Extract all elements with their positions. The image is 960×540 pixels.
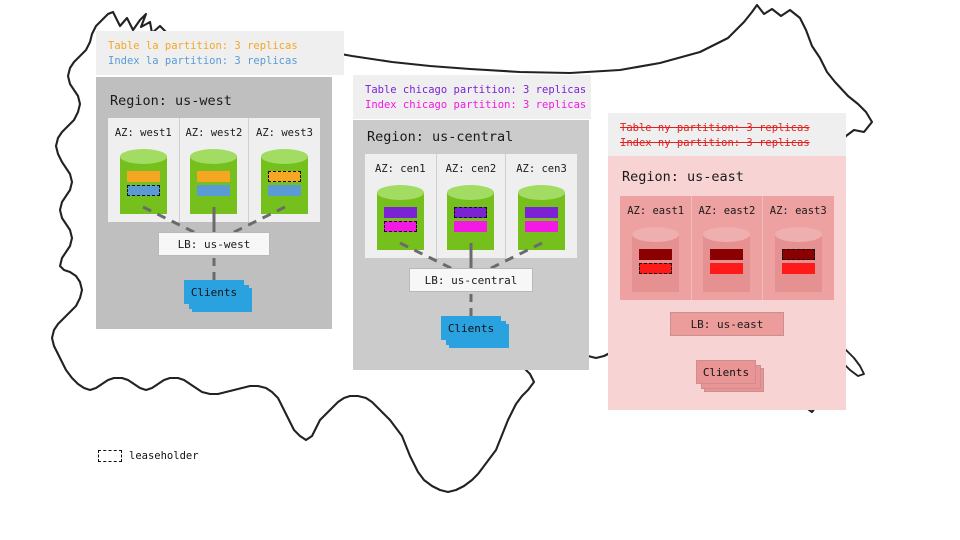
region-panel-us-central: Region: us-central AZ: cen1 AZ: cen2 [353,120,589,370]
lb-label: LB: us-central [425,274,518,287]
replica-bar-table [639,249,672,260]
az-label: AZ: east1 [627,205,684,217]
az-cell-east3[interactable]: AZ: east3 [763,196,834,300]
annotation-line: Table ny partition: 3 replicas [620,121,834,136]
az-label: AZ: west3 [256,127,313,139]
replica-bar-table-leaseholder [782,249,815,260]
replica-bar-index [525,221,558,232]
replica-bar-index [710,263,743,274]
az-label: AZ: cen1 [375,163,426,175]
replica-bar-table [710,249,743,260]
load-balancer-us-west[interactable]: LB: us-west [158,232,270,256]
replica-bar-index-leaseholder [639,263,672,274]
node-cylinder[interactable] [775,227,822,299]
replica-bar-table [127,171,160,182]
clients-label: Clients [191,286,237,299]
replica-bar-table-leaseholder [268,171,301,182]
node-cylinder[interactable] [447,185,494,257]
region-title: Region: us-central [367,129,513,145]
clients-box[interactable]: Clients [184,280,244,304]
az-cell-cen1[interactable]: AZ: cen1 [365,154,436,258]
az-cell-cen3[interactable]: AZ: cen3 [506,154,577,258]
node-cylinder[interactable] [190,149,237,221]
az-label: AZ: west1 [115,127,172,139]
legend-leaseholder: leaseholder [98,450,199,462]
annotation-line: Table la partition: 3 replicas [108,39,332,54]
replica-bar-index [268,185,301,196]
clients-box[interactable]: Clients [441,316,501,340]
clients-label: Clients [448,322,494,335]
az-strip: AZ: east1 AZ: east2 [620,196,834,300]
az-cell-cen2[interactable]: AZ: cen2 [436,154,507,258]
az-label: AZ: east2 [698,205,755,217]
load-balancer-us-central[interactable]: LB: us-central [409,268,533,292]
annotation-us-central: Table chicago partition: 3 replicas Inde… [353,75,591,119]
diagram-canvas: Table la partition: 3 replicas Index la … [0,0,960,540]
az-label: AZ: cen3 [516,163,567,175]
replica-bar-table [197,171,230,182]
node-cylinder[interactable] [518,185,565,257]
az-cell-west2[interactable]: AZ: west2 [179,118,250,222]
annotation-line: Index ny partition: 3 replicas [620,136,834,151]
annotation-line: Index la partition: 3 replicas [108,54,332,69]
az-cell-east1[interactable]: AZ: east1 [620,196,691,300]
node-cylinder[interactable] [703,227,750,299]
clients-box[interactable]: Clients [696,360,756,384]
legend-label: leaseholder [129,450,199,462]
lb-label: LB: us-west [178,238,251,251]
az-label: AZ: cen2 [446,163,497,175]
az-strip: AZ: west1 AZ: west2 [108,118,320,222]
az-label: AZ: east3 [770,205,827,217]
region-panel-us-west: Region: us-west AZ: west1 AZ: west2 [96,77,332,329]
clients-us-west[interactable]: Clients [184,280,252,312]
node-cylinder[interactable] [261,149,308,221]
node-cylinder[interactable] [377,185,424,257]
node-cylinder[interactable] [632,227,679,299]
replica-bar-table [384,207,417,218]
az-strip: AZ: cen1 AZ: cen2 [365,154,577,258]
annotation-us-west: Table la partition: 3 replicas Index la … [96,31,344,75]
az-cell-west1[interactable]: AZ: west1 [108,118,179,222]
load-balancer-us-east[interactable]: LB: us-east [670,312,784,336]
replica-bar-table-leaseholder [454,207,487,218]
cylinder-top [632,227,679,242]
region-title: Region: us-east [622,169,744,185]
replica-bar-index [454,221,487,232]
replica-bar-table [525,207,558,218]
annotation-us-east: Table ny partition: 3 replicas Index ny … [608,113,846,156]
annotation-line: Index chicago partition: 3 replicas [365,98,579,113]
clients-us-east[interactable]: Clients [696,360,764,392]
cylinder-top [775,227,822,242]
cylinder-top [518,185,565,200]
node-cylinder[interactable] [120,149,167,221]
region-title: Region: us-west [110,93,232,109]
cylinder-top [377,185,424,200]
az-cell-west3[interactable]: AZ: west3 [249,118,320,222]
az-label: AZ: west2 [185,127,242,139]
replica-bar-index [782,263,815,274]
replica-bar-index [197,185,230,196]
annotation-line: Table chicago partition: 3 replicas [365,83,579,98]
az-cell-east2[interactable]: AZ: east2 [691,196,762,300]
cylinder-top [261,149,308,164]
replica-bar-index-leaseholder [384,221,417,232]
lb-label: LB: us-east [691,318,764,331]
clients-label: Clients [703,366,749,379]
region-panel-us-east: Region: us-east AZ: east1 AZ: east2 [608,156,846,410]
cylinder-top [120,149,167,164]
replica-bar-index-leaseholder [127,185,160,196]
dashed-rect-icon [98,450,122,462]
clients-us-central[interactable]: Clients [441,316,509,348]
